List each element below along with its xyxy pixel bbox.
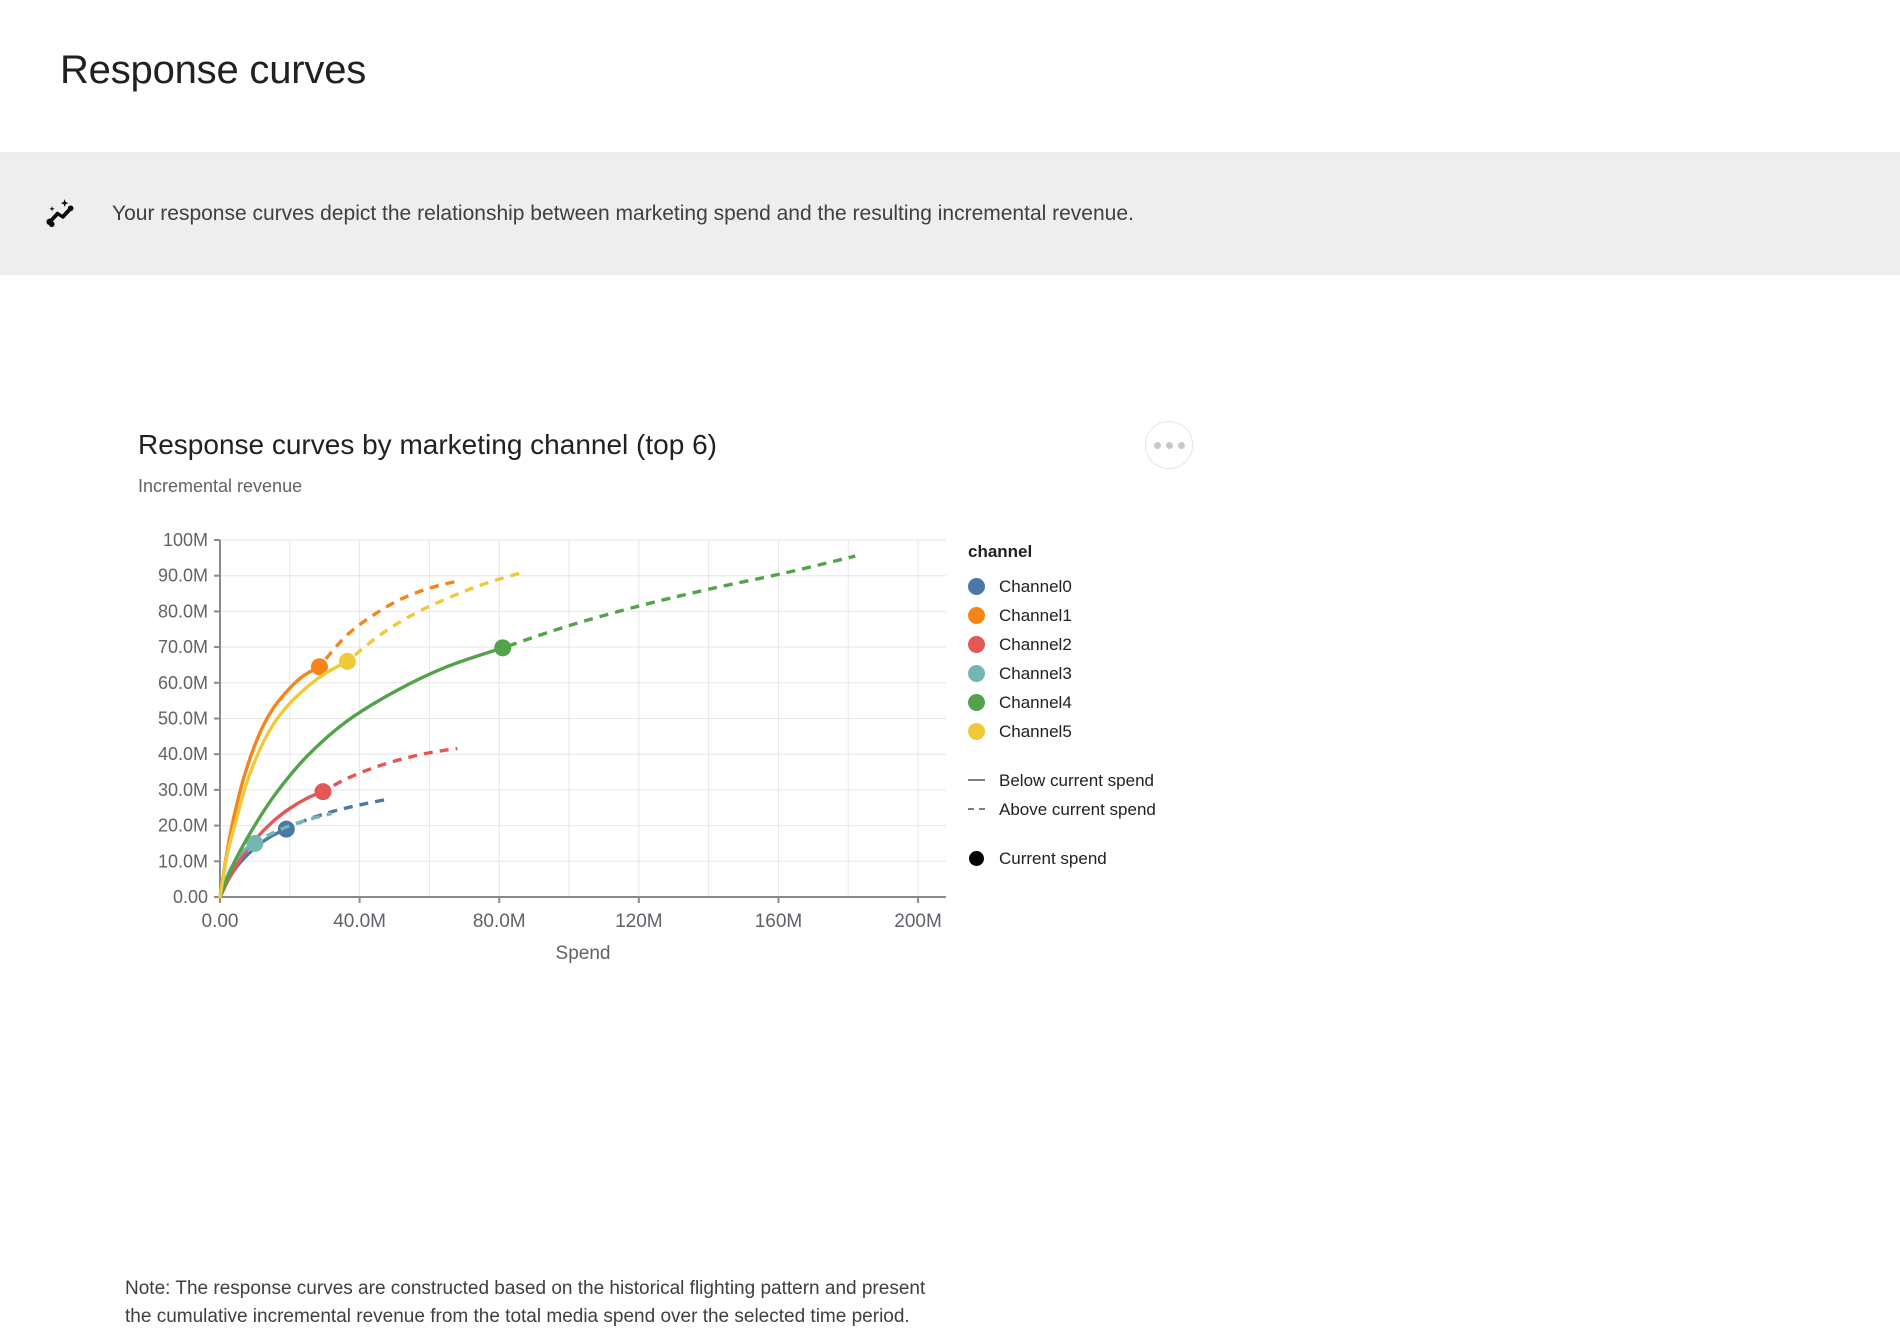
legend-separator <box>968 824 1238 844</box>
info-banner: Your response curves depict the relation… <box>0 153 1900 275</box>
curve-below-current-spend-channel4[interactable] <box>220 647 503 896</box>
y-tick-label: 20.0M <box>158 815 208 835</box>
legend-item-current-spend[interactable]: Current spend <box>968 844 1238 873</box>
page-header: Response curves <box>0 0 1900 153</box>
curve-above-current-spend-channel2[interactable] <box>321 748 457 792</box>
insights-sparkle-icon <box>40 192 84 236</box>
x-axis-title: Spend <box>556 943 611 964</box>
kebab-dot-icon <box>1154 442 1161 449</box>
kebab-dot-icon <box>1166 442 1173 449</box>
legend-label: Channel4 <box>999 694 1072 711</box>
legend-swatch-icon <box>968 694 985 711</box>
chart-plot-area: 0.0010.0M20.0M30.0M40.0M50.0M60.0M70.0M8… <box>138 522 1258 1042</box>
y-axis-ticks: 0.0010.0M20.0M30.0M40.0M50.0M60.0M70.0M8… <box>158 530 220 907</box>
legend-item-channel4[interactable]: Channel4 <box>968 688 1238 717</box>
current-spend-marker-channel5[interactable] <box>339 652 356 669</box>
gridlines <box>220 540 946 897</box>
legend-swatch-icon <box>968 636 985 653</box>
legend-label: Channel2 <box>999 636 1072 653</box>
chart-legend: channel Channel0 Channel1 Channel2 Chann… <box>968 542 1238 873</box>
current-spend-dot-icon <box>969 851 984 866</box>
current-spend-marker-channel0[interactable] <box>278 820 295 837</box>
solid-line-icon <box>968 779 985 781</box>
y-tick-label: 90.0M <box>158 565 208 585</box>
x-tick-label: 40.0M <box>333 911 386 932</box>
legend-item-channel2[interactable]: Channel2 <box>968 630 1238 659</box>
legend-item-channel1[interactable]: Channel1 <box>968 601 1238 630</box>
y-tick-label: 100M <box>163 530 208 550</box>
content-area: Response curves by marketing channel (to… <box>0 275 1900 1282</box>
chart-title: Response curves by marketing channel (to… <box>138 427 1258 462</box>
more-options-button[interactable] <box>1145 421 1193 469</box>
y-tick-label: 10.0M <box>158 851 208 871</box>
x-tick-label: 160M <box>755 911 803 932</box>
info-banner-text: Your response curves depict the relation… <box>112 199 1134 228</box>
legend-swatch-icon <box>968 578 985 595</box>
legend-label: Channel1 <box>999 607 1072 624</box>
legend-swatch-icon <box>968 723 985 740</box>
legend-swatch-icon <box>968 607 985 624</box>
dashed-line-icon <box>968 808 985 810</box>
legend-item-channel0[interactable]: Channel0 <box>968 572 1238 601</box>
legend-label: Current spend <box>999 850 1107 867</box>
kebab-dot-icon <box>1178 442 1185 449</box>
curve-above-current-spend-channel4[interactable] <box>498 556 855 649</box>
chart-note: Note: The response curves are constructe… <box>125 1275 945 1330</box>
legend-item-channel3[interactable]: Channel3 <box>968 659 1238 688</box>
x-tick-label: 80.0M <box>473 911 526 932</box>
legend-separator <box>968 746 1238 766</box>
legend-label: Above current spend <box>999 801 1156 818</box>
x-tick-label: 200M <box>894 911 942 932</box>
x-axis-ticks: 0.0040.0M80.0M120M160M200M <box>202 897 942 932</box>
legend-item-above-current-spend[interactable]: Above current spend <box>968 795 1238 824</box>
x-tick-label: 0.00 <box>202 911 239 932</box>
legend-label: Channel0 <box>999 578 1072 595</box>
x-tick-label: 120M <box>615 911 663 932</box>
page-title: Response curves <box>60 48 1900 92</box>
curve-above-current-spend-channel1[interactable] <box>318 581 458 669</box>
legend-label: Channel5 <box>999 723 1072 740</box>
series-group <box>220 556 855 897</box>
y-tick-label: 40.0M <box>158 744 208 764</box>
y-tick-label: 80.0M <box>158 601 208 621</box>
legend-label: Channel3 <box>999 665 1072 682</box>
legend-item-channel5[interactable]: Channel5 <box>968 717 1238 746</box>
y-tick-label: 50.0M <box>158 708 208 728</box>
y-tick-label: 70.0M <box>158 637 208 657</box>
current-spend-marker-channel2[interactable] <box>314 783 331 800</box>
legend-swatch-icon <box>968 665 985 682</box>
y-tick-label: 0.00 <box>173 887 208 907</box>
current-spend-marker-channel4[interactable] <box>494 639 511 656</box>
legend-title: channel <box>968 542 1238 562</box>
y-tick-label: 60.0M <box>158 672 208 692</box>
card-header: Response curves by marketing channel (to… <box>138 427 1258 498</box>
chart-subtitle: Incremental revenue <box>138 476 1258 498</box>
y-tick-label: 30.0M <box>158 779 208 799</box>
response-curves-card: Response curves by marketing channel (to… <box>138 427 1258 1042</box>
legend-item-below-current-spend[interactable]: Below current spend <box>968 766 1238 795</box>
legend-label: Below current spend <box>999 772 1154 789</box>
